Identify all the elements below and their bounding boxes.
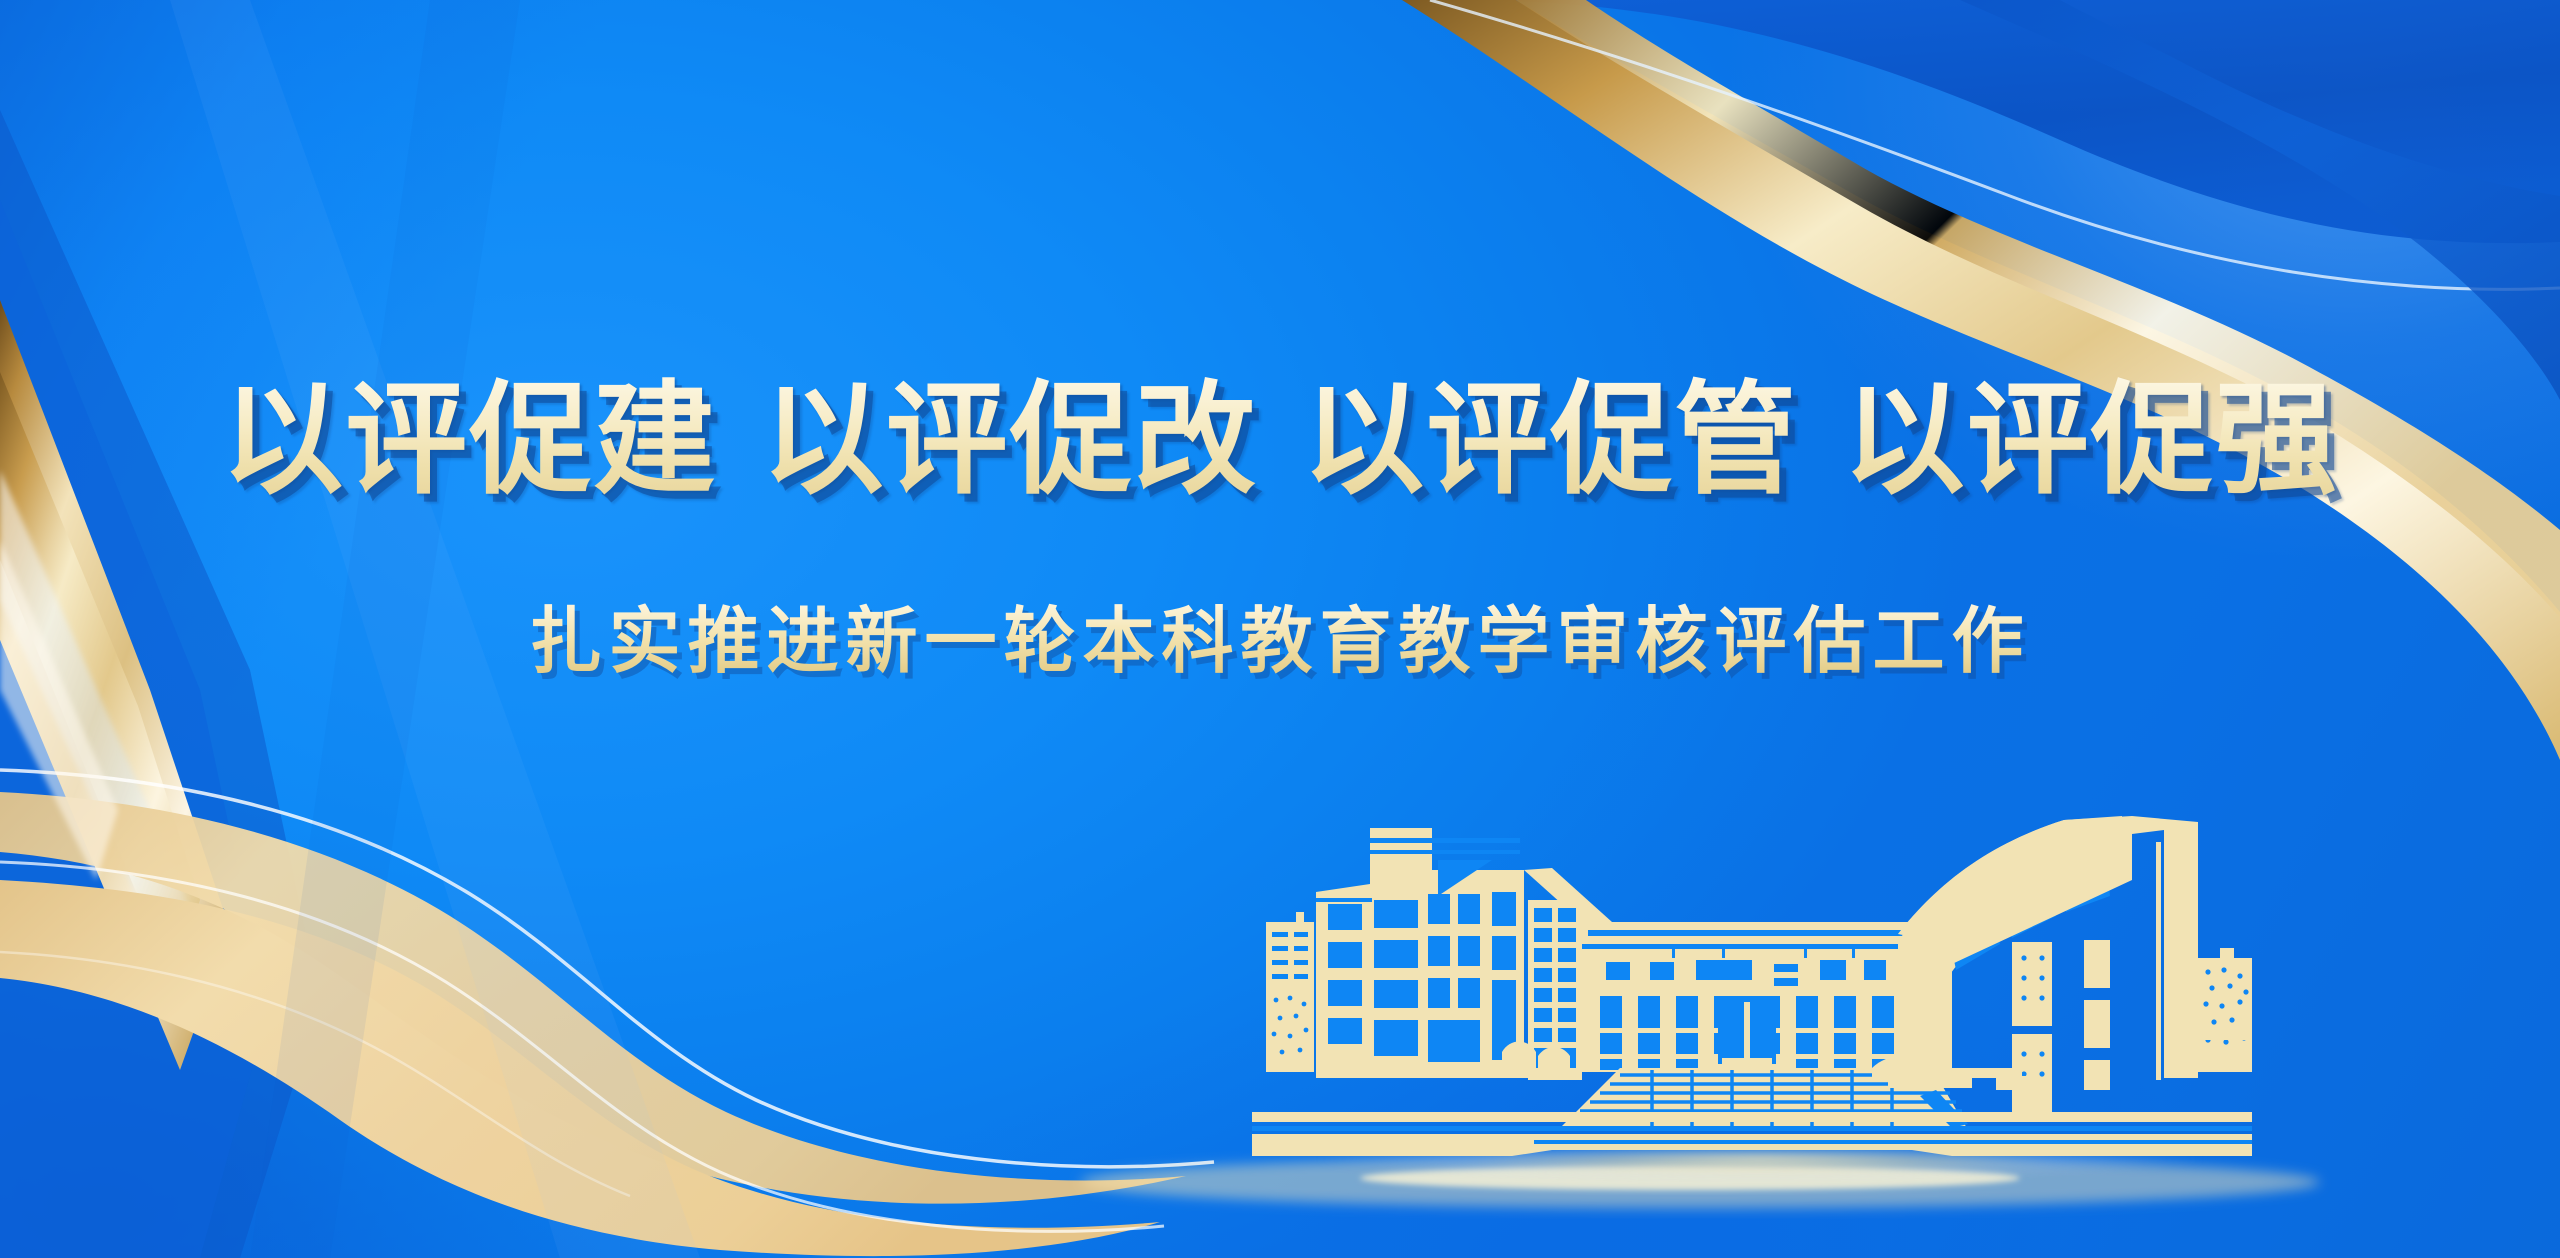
building-ground-line-2 [1252,1126,2252,1131]
banner-root: 以评促建 以评促改 以评促管 以评促强 扎实推进新一轮本科教育教学审核评估工作 [0,0,2560,1258]
banner-text-block: 以评促建 以评促改 以评促管 以评促强 扎实推进新一轮本科教育教学审核评估工作 [0,372,2560,680]
building-ground-line-3 [1252,1134,2252,1140]
building-right-annex [2198,948,2252,1072]
building-base-ragged [1534,1140,2252,1144]
banner-subheadline: 扎实推进新一轮本科教育教学审核评估工作 [0,601,2560,680]
building-right-slab-windows [2012,940,2110,1112]
banner-headline: 以评促建 以评促改 以评促管 以评促强 [0,372,2560,509]
campus-building-svg [1252,772,2252,1158]
building-ground-line-1 [1252,1112,2252,1122]
campus-building-illustration [1252,772,2252,1158]
